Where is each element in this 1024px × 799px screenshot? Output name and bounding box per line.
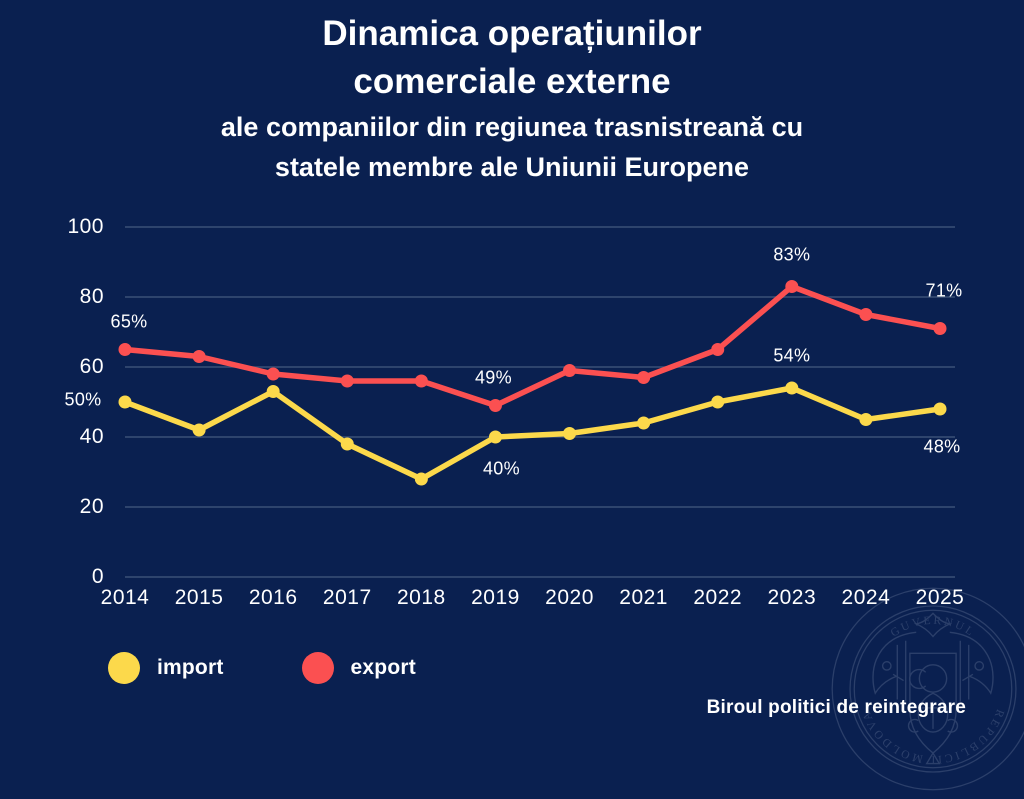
data-label-import-2023: 54% <box>773 346 810 367</box>
data-point-export-2020 <box>563 364 576 377</box>
legend-item-export[interactable]: export <box>302 652 416 684</box>
legend-label-import: import <box>157 656 224 680</box>
x-axis-tick-2019: 2019 <box>455 586 535 610</box>
data-point-export-2023 <box>785 280 798 293</box>
x-axis-tick-2025: 2025 <box>900 586 980 610</box>
data-label-import-2019: 40% <box>483 459 520 480</box>
x-axis-tick-2023: 2023 <box>752 586 832 610</box>
data-point-import-2024 <box>859 413 872 426</box>
data-point-export-2016 <box>267 368 280 381</box>
data-label-export-2014: 65% <box>111 311 148 332</box>
y-axis-tick-80: 80 <box>44 285 104 309</box>
legend-swatch-export-icon <box>302 652 334 684</box>
footer-attribution: Biroul politici de reintegrare <box>707 697 966 719</box>
x-axis-tick-2014: 2014 <box>85 586 165 610</box>
chart-page: GUVERNUL REPUBLICII MOLDOVA <box>0 0 1024 768</box>
data-point-export-2014 <box>119 343 132 356</box>
y-axis-tick-20: 20 <box>44 495 104 519</box>
series-line-export <box>125 287 940 406</box>
data-point-import-2021 <box>637 417 650 430</box>
y-axis-tick-100: 100 <box>44 215 104 239</box>
data-point-import-2017 <box>341 438 354 451</box>
y-axis-tick-40: 40 <box>44 425 104 449</box>
x-axis-tick-2020: 2020 <box>530 586 610 610</box>
chart-legend: importexport <box>108 652 416 684</box>
data-point-import-2018 <box>415 473 428 486</box>
data-point-import-2023 <box>785 382 798 395</box>
data-point-import-2014 <box>119 396 132 409</box>
data-point-import-2016 <box>267 385 280 398</box>
y-axis-tick-60: 60 <box>44 355 104 379</box>
data-point-import-2015 <box>193 424 206 437</box>
data-label-export-2023: 83% <box>773 244 810 265</box>
series-line-import <box>125 388 940 479</box>
x-axis-tick-2021: 2021 <box>604 586 684 610</box>
data-point-export-2018 <box>415 375 428 388</box>
x-axis-tick-2024: 2024 <box>826 586 906 610</box>
data-point-export-2024 <box>859 308 872 321</box>
x-axis-tick-2017: 2017 <box>307 586 387 610</box>
data-point-export-2017 <box>341 375 354 388</box>
data-label-import-2014: 50% <box>65 390 102 411</box>
data-point-export-2022 <box>711 343 724 356</box>
data-point-import-2025 <box>934 403 947 416</box>
data-point-export-2015 <box>193 350 206 363</box>
data-point-export-2021 <box>637 371 650 384</box>
x-axis-tick-2016: 2016 <box>233 586 313 610</box>
data-label-export-2025: 71% <box>926 280 963 301</box>
x-axis-tick-2018: 2018 <box>381 586 461 610</box>
data-point-import-2022 <box>711 396 724 409</box>
data-point-export-2019 <box>489 399 502 412</box>
data-point-export-2025 <box>934 322 947 335</box>
data-point-import-2019 <box>489 431 502 444</box>
x-axis-tick-2015: 2015 <box>159 586 239 610</box>
legend-swatch-import-icon <box>108 652 140 684</box>
legend-label-export: export <box>351 656 416 680</box>
x-axis-tick-2022: 2022 <box>678 586 758 610</box>
data-label-export-2019: 49% <box>475 367 512 388</box>
legend-item-import[interactable]: import <box>108 652 224 684</box>
data-point-import-2020 <box>563 427 576 440</box>
data-label-import-2025: 48% <box>924 437 961 458</box>
